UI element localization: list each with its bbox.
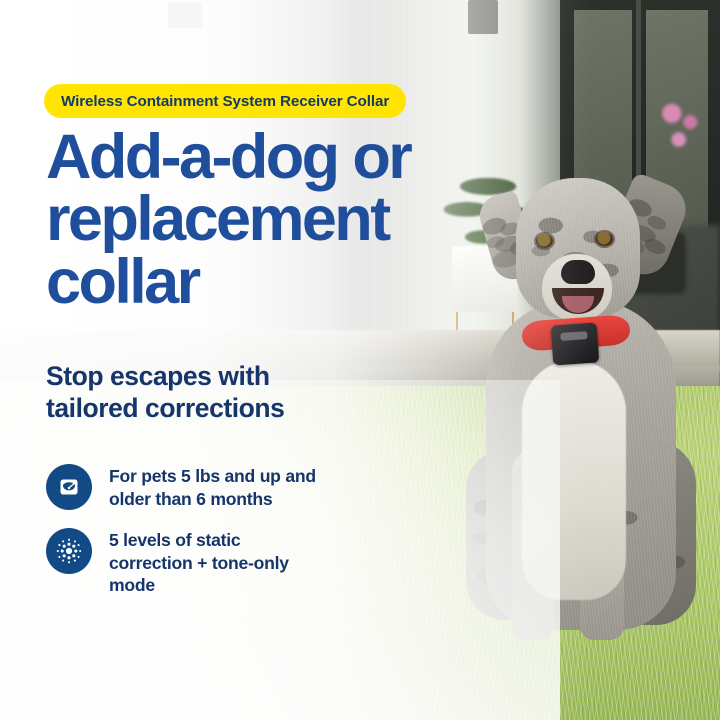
feature-static-line-1: 5 levels of static [109, 529, 289, 552]
headline-line-1: Add-a-dog or [46, 126, 516, 188]
feature-list: For pets 5 lbs and up and older than 6 m… [46, 462, 376, 613]
subheadline: Stop escapes with tailored corrections [46, 360, 406, 425]
feature-item-weight: For pets 5 lbs and up and older than 6 m… [46, 462, 376, 510]
feature-static-line-3: mode [109, 574, 289, 597]
weight-scale-icon [46, 464, 92, 510]
content-layer: Wireless Containment System Receiver Col… [0, 0, 720, 720]
eyebrow-label: Wireless Containment System Receiver Col… [61, 93, 389, 110]
headline-line-2: replacement [46, 188, 516, 250]
feature-weight-line-2: older than 6 months [109, 488, 316, 511]
feature-weight-text: For pets 5 lbs and up and older than 6 m… [109, 462, 316, 510]
static-burst-icon [46, 528, 92, 574]
eyebrow-badge: Wireless Containment System Receiver Col… [44, 84, 406, 118]
feature-weight-line-1: For pets 5 lbs and up and [109, 465, 316, 488]
feature-static-text: 5 levels of static correction + tone-onl… [109, 526, 289, 597]
page-title: Add-a-dog or replacement collar [46, 126, 516, 313]
headline-line-3: collar [46, 251, 516, 313]
promo-banner: Wireless Containment System Receiver Col… [0, 0, 720, 720]
subheadline-line-2: tailored corrections [46, 392, 406, 424]
subheadline-line-1: Stop escapes with [46, 360, 406, 392]
feature-static-line-2: correction + tone-only [109, 552, 289, 575]
feature-item-static: 5 levels of static correction + tone-onl… [46, 526, 376, 597]
